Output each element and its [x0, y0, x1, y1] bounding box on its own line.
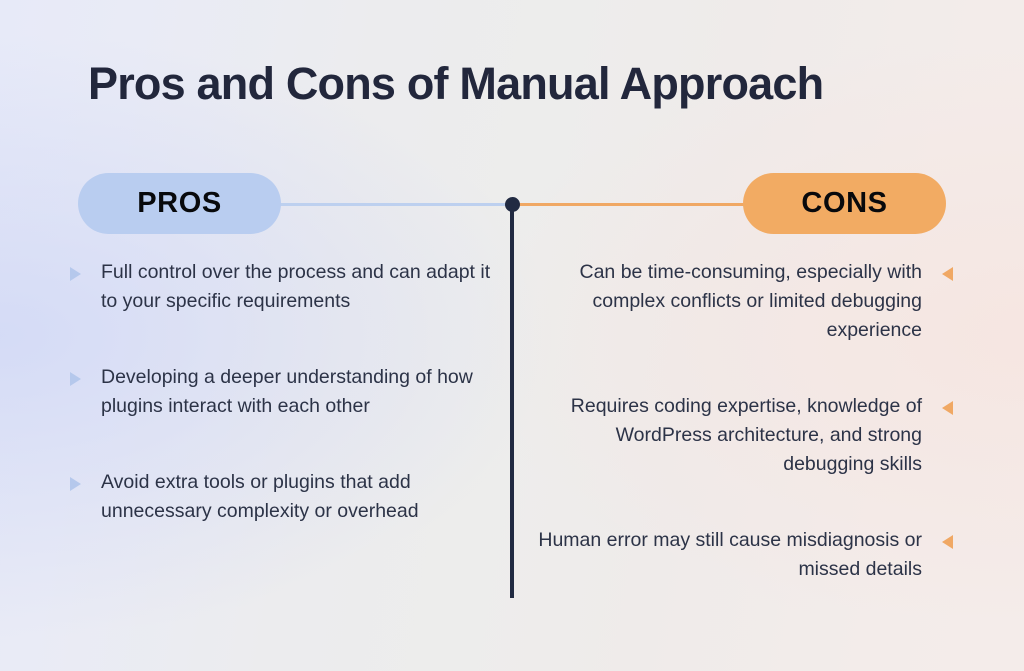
list-item: Human error may still cause misdiagnosis…	[528, 526, 953, 584]
triangle-right-icon	[70, 372, 81, 386]
list-item: Requires coding expertise, knowledge of …	[528, 392, 953, 479]
triangle-right-icon	[70, 477, 81, 491]
pros-heading-pill: PROS	[78, 173, 281, 234]
pros-connector-line	[280, 203, 512, 206]
cons-item-text: Human error may still cause misdiagnosis…	[530, 526, 922, 584]
pros-item-text: Full control over the process and can ad…	[101, 258, 493, 316]
list-item: Full control over the process and can ad…	[70, 258, 495, 316]
cons-connector-line	[512, 203, 744, 206]
pros-item-text: Developing a deeper understanding of how…	[101, 363, 493, 421]
pros-list: Full control over the process and can ad…	[70, 258, 495, 526]
cons-list: Can be time-consuming, especially with c…	[528, 258, 953, 584]
cons-heading-pill: CONS	[743, 173, 946, 234]
list-item: Can be time-consuming, especially with c…	[528, 258, 953, 345]
triangle-left-icon	[942, 267, 953, 281]
list-item: Avoid extra tools or plugins that add un…	[70, 468, 495, 526]
triangle-left-icon	[942, 401, 953, 415]
cons-item-text: Can be time-consuming, especially with c…	[530, 258, 922, 345]
pros-item-text: Avoid extra tools or plugins that add un…	[101, 468, 493, 526]
triangle-right-icon	[70, 267, 81, 281]
pros-cons-infographic: Pros and Cons of Manual Approach PROS CO…	[0, 0, 1024, 671]
center-vertical-divider	[510, 205, 514, 598]
cons-item-text: Requires coding expertise, knowledge of …	[530, 392, 922, 479]
page-title: Pros and Cons of Manual Approach	[88, 58, 948, 110]
list-item: Developing a deeper understanding of how…	[70, 363, 495, 421]
triangle-left-icon	[942, 535, 953, 549]
